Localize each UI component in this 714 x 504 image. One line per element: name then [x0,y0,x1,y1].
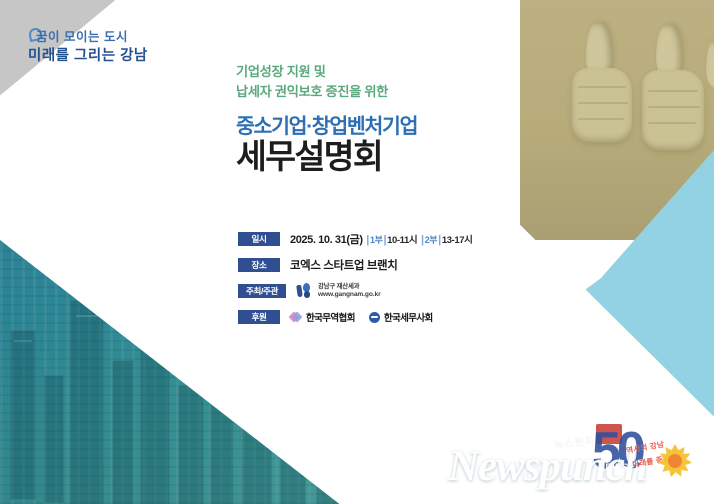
knuckle-line [578,102,628,104]
poster-subtitle-line2: 납세자 권익보호 증진을 위한 [236,82,536,102]
gangnam-mark-icon [296,283,313,299]
detail-value-host: 강남구 재산세과 www.gangnam.go.kr [296,283,381,299]
knuckle-line [578,86,626,88]
detail-value-sponsors: 한국무역협회 한국세무사회 [290,310,433,324]
host-name: 강남구 재산세과 [318,283,381,291]
date-separator: | [421,234,424,246]
gangnam-logo: 꿈이 모이는 도시 미래를 그리는 강남 [28,26,188,72]
date-separator: | [438,234,441,246]
event-date: 2025. 10. 31(금) [290,234,363,246]
session1-time: 10-11시 [387,235,417,246]
detail-label-date: 일시 [238,232,280,247]
detail-label-venue: 장소 [238,258,280,273]
detail-row-venue: 장소 코엑스 스타트업 브랜치 [238,254,548,276]
knuckle-line [648,106,700,108]
gangnam-logo-line2: 미래를 그리는 강남 [28,44,148,65]
knuckle-line [648,122,696,124]
sponsor-kacpta-name: 한국세무사회 [384,310,433,324]
kacpta-circle-logo-icon [369,312,380,323]
newspunch-watermark: 50 Newspunch 뉴스펀치 NEWSPUNCH 역사의 강남 미래를 중… [446,420,714,504]
knuckle-line [648,90,698,92]
poster-title-line2: 세무설명회 [236,140,536,177]
thumb-icon [706,40,714,88]
detail-label-host: 주최/주관 [238,284,286,299]
date-separator: | [366,234,369,246]
detail-row-date: 일시 2025. 10. 31(금) |1부|10-11시 |2부|13-17시 [238,228,548,250]
detail-value-date: 2025. 10. 31(금) |1부|10-11시 |2부|13-17시 [290,231,472,247]
knuckle-line [578,118,624,120]
session1-label: 1부 [370,235,383,245]
poster-subtitle: 기업성장 지원 및 납세자 권익보호 증진을 위한 [236,62,536,102]
sponsor-kacpta: 한국세무사회 [369,310,433,324]
host-url[interactable]: www.gangnam.go.kr [318,291,381,299]
fist-shape [572,68,632,142]
headline-block: 기업성장 지원 및 납세자 권익보호 증진을 위한 중소기업·창업벤처기업 세무… [236,62,536,177]
detail-value-venue: 코엑스 스타트업 브랜치 [290,257,397,273]
sponsor-kita: 한국무역협회 [290,310,355,324]
event-details: 일시 2025. 10. 31(금) |1부|10-11시 |2부|13-17시… [238,228,548,332]
kita-diamond-logo-icon [290,311,302,323]
session2-time: 13-17시 [442,235,473,246]
event-poster: 꿈이 모이는 도시 미래를 그리는 강남 기업성장 지원 및 납세자 권익보호 … [0,0,714,504]
poster-subtitle-line1: 기업성장 지원 및 [236,62,536,82]
detail-row-host: 주최/주관 강남구 재산세과 www.gangnam.go.kr [238,280,548,302]
starburst-center-icon [668,454,682,468]
detail-label-sponsors: 후원 [238,310,280,325]
detail-row-sponsors: 후원 한국무역협회 한국세무사회 [238,306,548,328]
fist-shape [642,70,704,150]
host-text: 강남구 재산세과 www.gangnam.go.kr [318,283,381,299]
gangnam-logo-line1: 꿈이 모이는 도시 [36,26,128,45]
date-separator: | [383,234,386,246]
session2-label: 2부 [425,235,438,245]
sponsor-kita-name: 한국무역협회 [306,310,355,324]
poster-title-line1: 중소기업·창업벤처기업 [236,116,536,138]
